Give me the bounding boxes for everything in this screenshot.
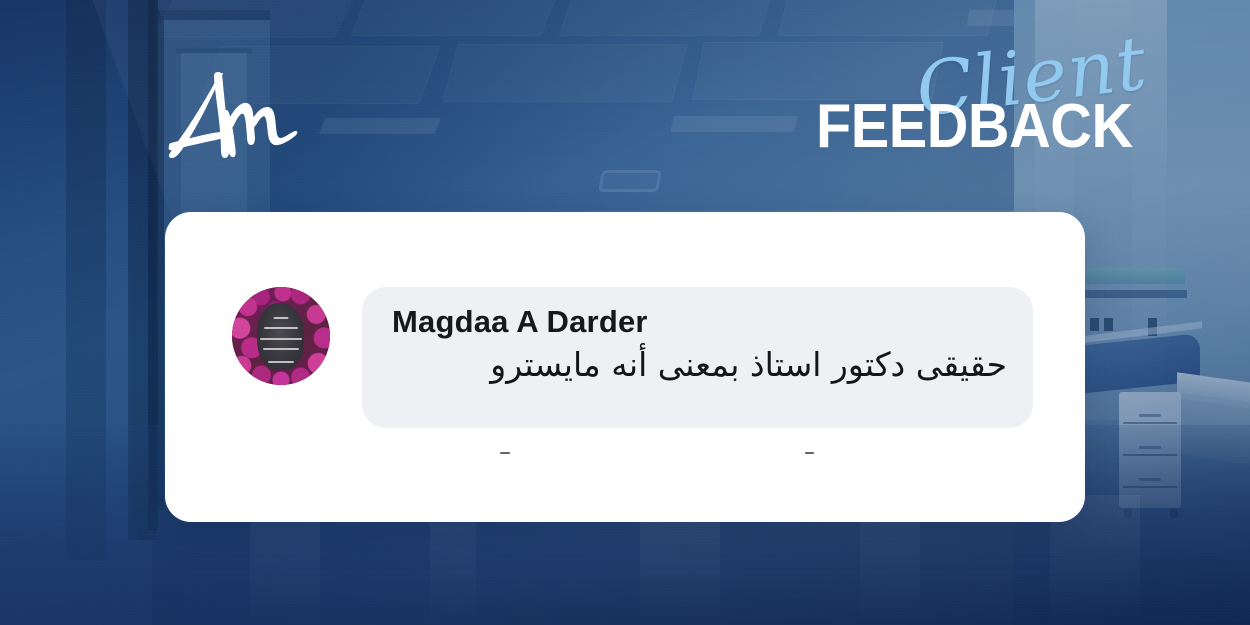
avatar-calligraphy-line bbox=[263, 348, 299, 350]
testimonial-row: Magdaa A Darder حقيقى دكتور استاذ بمعنى … bbox=[232, 287, 1033, 428]
avatar-calligraphy-line bbox=[260, 338, 302, 340]
headline-block: Client FEEDBACK bbox=[812, 38, 1088, 168]
headline-main-word: FEEDBACK bbox=[816, 96, 1133, 158]
cropped-text-remnant bbox=[805, 452, 814, 454]
author-name: Magdaa A Darder bbox=[392, 303, 1007, 341]
testimonial-card: Magdaa A Darder حقيقى دكتور استاذ بمعنى … bbox=[165, 212, 1085, 522]
cropped-text-remnant bbox=[500, 452, 510, 454]
message-bubble: Magdaa A Darder حقيقى دكتور استاذ بمعنى … bbox=[362, 287, 1033, 428]
am-signature-logo bbox=[168, 72, 298, 164]
avatar-calligraphy-line bbox=[274, 317, 289, 319]
message-text: حقيقى دكتور استاذ بمعنى أنه مايسترو bbox=[392, 343, 1007, 387]
avatar-calligraphy-line bbox=[264, 327, 298, 329]
avatar bbox=[232, 287, 330, 385]
avatar-calligraphy-line bbox=[268, 361, 294, 363]
feedback-graphic: Client FEEDBACK Magdaa A Darder حقيقى دك… bbox=[0, 0, 1250, 625]
